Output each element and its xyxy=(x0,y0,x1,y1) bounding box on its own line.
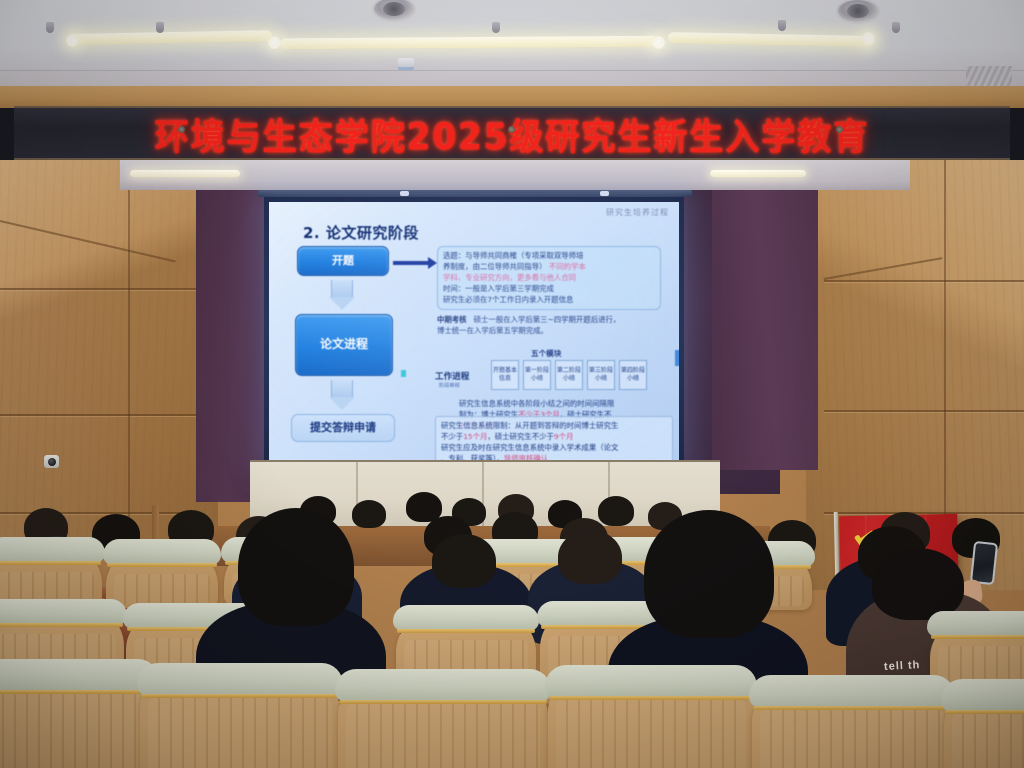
ceiling-spotlight-1 xyxy=(46,22,54,33)
event-banner: 环境与生态学院2025级研究生新生入学教育 xyxy=(0,102,1024,164)
arrow-to-text xyxy=(393,261,429,265)
kaiti-line-4: 时间：一般是入学后第三学期完成 xyxy=(443,283,655,294)
seat-front-1 xyxy=(0,666,156,768)
ceiling-spotlight-4 xyxy=(778,20,786,31)
banner-board: 环境与生态学院2025级研究生新生入学教育 xyxy=(14,106,1010,160)
shirt-graphic-text: tell th xyxy=(884,659,921,673)
kaiti-line-3-hl: 学科、专业研究方向，更多看与他人合同 xyxy=(443,272,655,283)
kaiti-text-block: 选题：与导师共同商榷（专项采取双导师培 养制度，由二位导师共同指导） 不同的学本… xyxy=(437,246,661,310)
seat-front-2 xyxy=(140,670,340,768)
audience-head-far-5 xyxy=(598,496,634,526)
screen-mount-rail xyxy=(258,190,692,197)
banner-title: 环境与生态学院2025级研究生新生入学教育 xyxy=(155,107,870,159)
seat-front-6 xyxy=(944,686,1024,768)
audience-head-far-8 xyxy=(352,500,386,528)
ceiling-light-strip-right xyxy=(668,32,874,47)
ceiling-spotlight-2 xyxy=(156,22,164,33)
audience-foreground-head-right xyxy=(644,510,774,638)
ceiling-spotlight-5 xyxy=(892,22,900,33)
slide-header: 研究生培养过程 xyxy=(606,207,669,218)
ceiling-vent-right xyxy=(836,0,880,24)
seat-front-3 xyxy=(338,676,548,768)
smartphone[interactable] xyxy=(970,541,998,585)
audience-head-row2-3 xyxy=(558,530,622,584)
audience-head-brown-shirt xyxy=(872,548,964,620)
smoke-detector-icon xyxy=(398,58,414,70)
audience-head-row2-2 xyxy=(432,534,496,588)
ceiling-light-strip-left xyxy=(70,30,272,45)
kaiti-line-1: 选题：与导师共同商榷（专项采取双导师培 xyxy=(443,250,655,261)
seat-front-5 xyxy=(752,682,952,768)
slide-title: 2. 论文研究阶段 xyxy=(303,222,419,243)
auditorium-photo: 环境与生态学院2025级研究生新生入学教育 xyxy=(0,0,1024,768)
audience-foreground-head-left xyxy=(238,508,354,626)
stage-soffit xyxy=(120,160,910,190)
seat-row3-1 xyxy=(0,544,102,606)
flow-box-kaiti: 开题 xyxy=(297,246,389,276)
audience-seating: tell th xyxy=(0,330,1024,768)
ceiling-vent-center xyxy=(372,0,416,22)
midterm-line-1: 硕士一般在入学后第三~四学期开题后进行， xyxy=(474,315,621,324)
seat-front-4 xyxy=(548,672,754,768)
kaiti-line-2: 养制度，由二位导师共同指导） xyxy=(443,262,546,271)
ceiling-light-strip-center xyxy=(280,36,658,50)
midterm-label: 中期考核 xyxy=(437,315,467,324)
seat-row3-2 xyxy=(106,546,218,608)
kaiti-line-2-hl: 不同的学本 xyxy=(549,262,586,271)
kaiti-line-5: 研究生必须在7个工作日内录入开题信息 xyxy=(443,294,655,305)
ceiling-grille xyxy=(966,66,1012,88)
ceiling-spotlight-3 xyxy=(492,22,500,33)
ceiling xyxy=(0,0,1024,88)
